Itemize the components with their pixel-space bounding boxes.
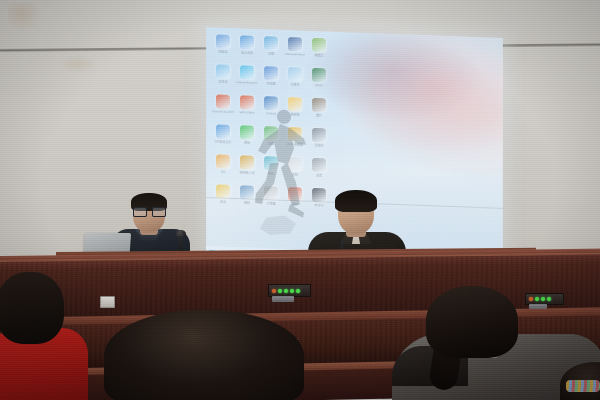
hair-clip-icon [566, 380, 600, 392]
speaker-right-hair [335, 190, 377, 212]
wall-power-socket[interactable] [100, 296, 115, 308]
audience-center-hair [104, 310, 304, 400]
audience-center [104, 310, 304, 400]
wall-stain-secondary [58, 55, 98, 73]
audience-red-hair [0, 272, 64, 344]
audience-far-right [560, 362, 600, 400]
control-panel-label [272, 296, 294, 302]
photo-scene: 回收站金山毒霸清理Microsoft Word看图王文件夹Internet Ex… [0, 0, 600, 400]
audience-right-hair [426, 286, 518, 358]
eyeglasses-icon [133, 207, 165, 215]
wall-stain [8, 2, 42, 32]
audience-red [0, 272, 92, 400]
